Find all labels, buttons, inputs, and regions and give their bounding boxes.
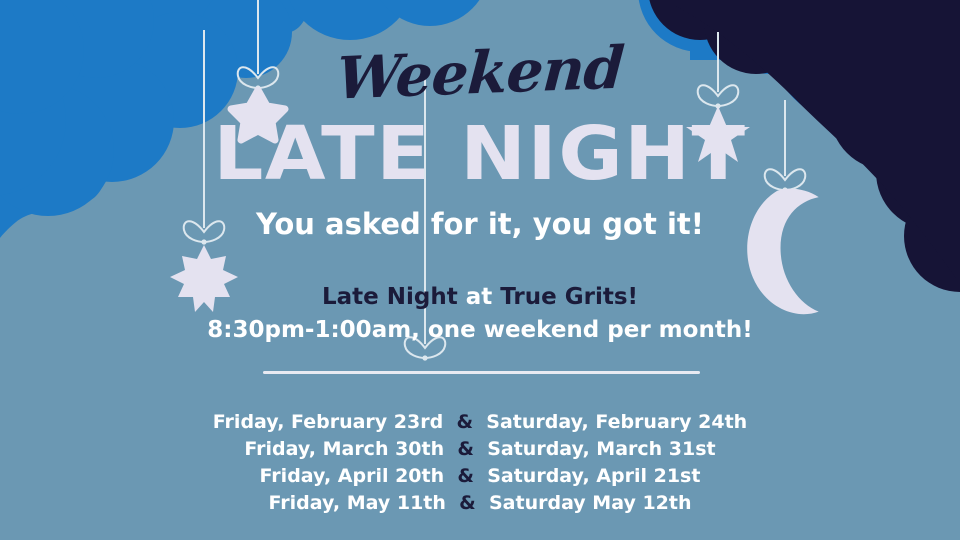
date-left: Friday, February 23rd (213, 411, 443, 433)
date-ampersand: & (459, 492, 476, 514)
details-true-grits: True Grits! (500, 284, 638, 310)
poster-text-content: Weekend LATE NIGHT You asked for it, you… (0, 0, 960, 540)
date-left: Friday, April 20th (260, 465, 445, 487)
dates-list: Friday, February 23rd & Saturday, Februa… (0, 409, 960, 517)
details-line-1: Late Night at True Grits! (0, 281, 960, 314)
details-block: Late Night at True Grits! 8:30pm-1:00am,… (0, 281, 960, 346)
details-line-2: 8:30pm-1:00am, one weekend per month! (0, 314, 960, 347)
date-row: Friday, April 20th & Saturday, April 21s… (0, 463, 960, 490)
date-right: Saturday, April 21st (487, 465, 700, 487)
date-right: Saturday May 12th (489, 492, 692, 514)
date-right: Saturday, February 24th (486, 411, 747, 433)
tagline: You asked for it, you got it! (0, 209, 960, 241)
horizontal-divider (263, 371, 700, 374)
date-ampersand: & (456, 411, 473, 433)
details-at: at (466, 284, 493, 310)
date-right: Saturday, March 31st (487, 438, 715, 460)
title-script-weekend: Weekend (0, 25, 960, 120)
title-late-night: LATE NIGHT (0, 117, 960, 191)
date-row: Friday, May 11th & Saturday May 12th (0, 490, 960, 517)
date-left: Friday, May 11th (268, 492, 445, 514)
date-row: Friday, March 30th & Saturday, March 31s… (0, 436, 960, 463)
date-ampersand: & (457, 465, 474, 487)
poster-canvas: Weekend LATE NIGHT You asked for it, you… (0, 0, 960, 540)
details-late-night: Late Night (322, 284, 458, 310)
date-row: Friday, February 23rd & Saturday, Februa… (0, 409, 960, 436)
date-left: Friday, March 30th (244, 438, 444, 460)
date-ampersand: & (457, 438, 474, 460)
